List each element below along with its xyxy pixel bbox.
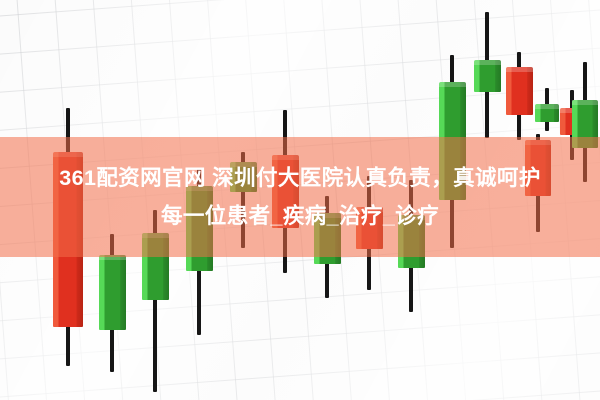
candle-body-highlight (572, 100, 598, 105)
candle-body-highlight (535, 104, 559, 109)
candlestick (142, 210, 169, 392)
candle-body-up (142, 233, 169, 300)
candlestick (53, 108, 83, 366)
candle-body-up (99, 255, 126, 330)
candlestick (535, 88, 559, 131)
candlestick (506, 52, 533, 140)
candle-body-highlight (99, 255, 126, 260)
candle-body-highlight (439, 82, 466, 87)
candle-body-highlight (53, 152, 83, 157)
candle-body-up (572, 100, 598, 148)
screenshot-root: 361配资网官网 深圳付大医院认真负责，真诚呵护 每一位患者_疾病_治疗_诊疗 (0, 0, 600, 400)
candle-body-down (506, 67, 533, 115)
headline-line-1: 361配资网官网 深圳付大医院认真负责，真诚呵护 (59, 166, 540, 190)
candle-body-highlight (525, 140, 551, 145)
candle-body-highlight (506, 67, 533, 72)
banner-headline: 361配资网官网 深圳付大医院认真负责，真诚呵护 每一位患者_疾病_治疗_诊疗 (0, 159, 600, 235)
candle-body-up (535, 104, 559, 122)
candle-body-highlight (474, 60, 501, 65)
candlestick (99, 234, 126, 372)
candlestick (474, 12, 501, 138)
headline-line-2: 每一位患者_疾病_治疗_诊疗 (0, 197, 600, 235)
candle-body-up (474, 60, 501, 92)
